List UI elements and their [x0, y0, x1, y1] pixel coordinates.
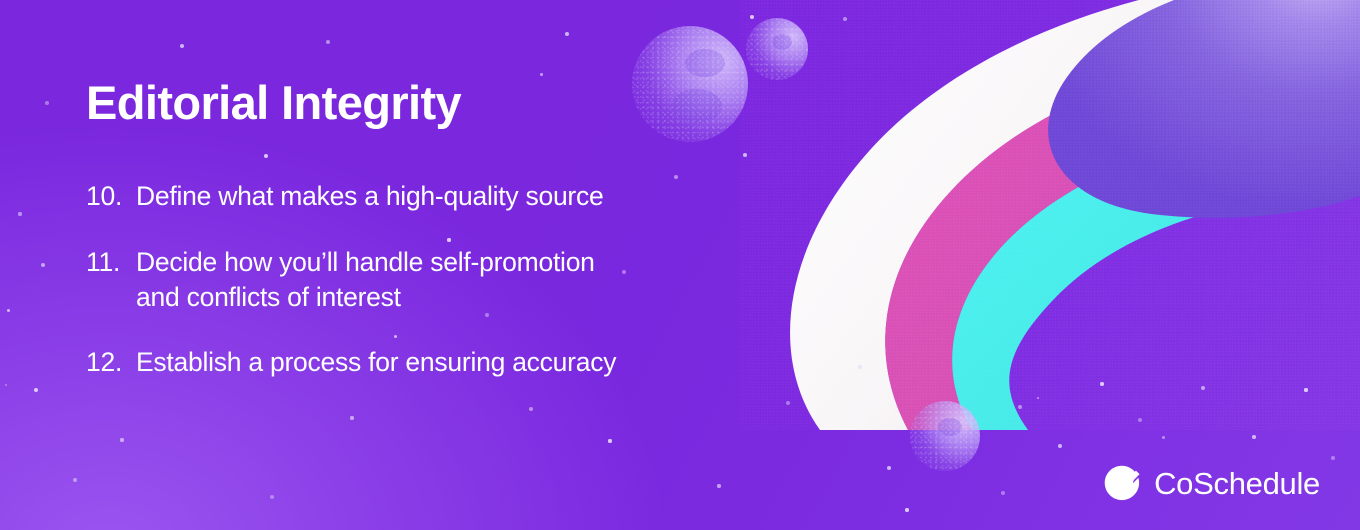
star-dot	[180, 44, 185, 49]
star-dot	[120, 438, 123, 441]
checklist: 10.Define what makes a high-quality sour…	[86, 179, 786, 380]
logo-wordmark: CoSchedule	[1154, 468, 1320, 499]
star-dot	[18, 212, 21, 215]
star-dot	[1201, 386, 1205, 390]
star-dot	[608, 439, 611, 442]
star-dot	[1162, 436, 1165, 439]
checklist-item-text: Establish a process for ensuring accurac…	[136, 345, 786, 380]
star-dot	[1138, 418, 1142, 422]
star-dot	[565, 32, 569, 36]
circle-check-icon	[1103, 464, 1141, 502]
checklist-item: 11.Decide how you’ll handle self-promoti…	[86, 245, 786, 315]
star-dot	[717, 484, 720, 487]
star-dot	[1252, 435, 1256, 439]
checklist-item-number: 10.	[86, 179, 136, 214]
banner-content: Editorial Integrity 10.Define what makes…	[86, 78, 786, 380]
star-dot	[73, 478, 77, 482]
moon-large-crater-1	[685, 49, 724, 77]
star-dot	[1058, 444, 1062, 448]
star-dot	[1100, 382, 1103, 385]
star-dot	[34, 388, 38, 392]
moon-small-crater-1	[772, 34, 792, 50]
moon-small-body	[746, 18, 808, 80]
moon-bottom	[910, 401, 980, 471]
checklist-item: 10.Define what makes a high-quality sour…	[86, 179, 786, 214]
star-dot	[1037, 397, 1040, 400]
star-dot	[786, 401, 790, 405]
checklist-item-number: 12.	[86, 345, 136, 380]
star-dot	[1331, 456, 1335, 460]
star-dot	[540, 73, 543, 76]
star-dot	[887, 466, 891, 470]
moon-bottom-grain	[910, 401, 980, 471]
star-dot	[858, 365, 861, 368]
moon-bottom-body	[910, 401, 980, 471]
checklist-item-number: 11.	[86, 245, 136, 280]
checklist-item-text: Define what makes a high-quality source	[136, 179, 786, 214]
star-dot	[1018, 405, 1022, 409]
star-dot	[7, 309, 10, 312]
star-dot	[529, 407, 533, 411]
star-dot	[270, 495, 274, 499]
moon-small	[746, 18, 808, 80]
checklist-item-text: Decide how you’ll handle self-promotion …	[136, 245, 786, 315]
coschedule-logo[interactable]: CoSchedule	[1103, 464, 1320, 502]
star-dot	[5, 384, 8, 387]
page-title: Editorial Integrity	[86, 78, 786, 127]
moon-small-grain	[746, 18, 808, 80]
star-dot	[843, 17, 848, 22]
moon-bottom-crater-1	[938, 418, 962, 436]
star-dot	[750, 15, 755, 20]
star-dot	[45, 101, 49, 105]
star-dot	[1304, 388, 1307, 391]
star-dot	[41, 263, 46, 268]
star-dot	[905, 508, 908, 511]
graphic-grain-texture	[740, 0, 1360, 430]
star-dot	[1001, 491, 1005, 495]
star-dot	[326, 40, 330, 44]
editorial-integrity-banner: Editorial Integrity 10.Define what makes…	[0, 0, 1360, 530]
star-dot	[350, 416, 353, 419]
ringed-planet-illustration	[740, 0, 1360, 430]
checklist-item: 12.Establish a process for ensuring accu…	[86, 345, 786, 380]
